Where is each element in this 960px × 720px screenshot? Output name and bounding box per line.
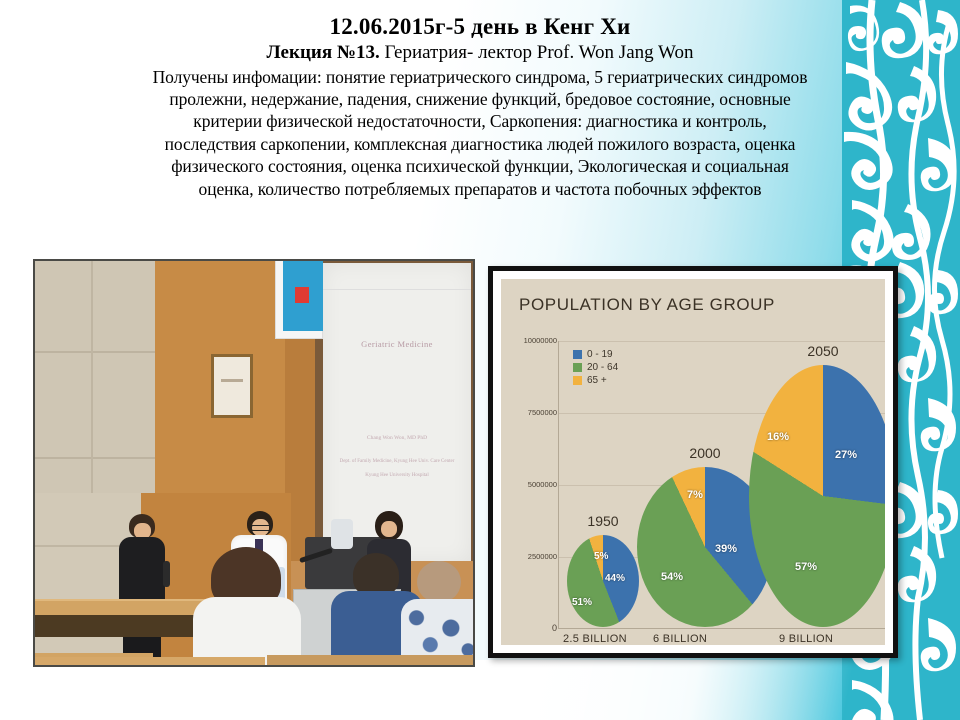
body-line: последствия саркопении, комплексная диаг… (40, 133, 920, 155)
legend-label: 0 - 19 (587, 349, 613, 360)
lecture-topic: Гериатрия- лектор Prof. Won Jang Won (380, 42, 694, 63)
pie-label-20-64: 51% (572, 597, 592, 608)
photo-presenter-face (381, 521, 397, 537)
page-title: 12.06.2015г-5 день в Кенг Хи (40, 14, 920, 40)
photo-equipment-light (331, 519, 353, 549)
page-subtitle: Лекция №13. Гериатрия- лектор Prof. Won … (40, 42, 920, 65)
lecture-hall-photo: Geriatric Medicine Chang Won Won, MD PhD… (33, 259, 475, 667)
legend-item: 20 - 64 (573, 362, 618, 373)
pie-year-label: 2050 (749, 343, 885, 359)
pie-slices-1950 (567, 535, 639, 627)
y-tick-label: 10000000 (501, 336, 557, 345)
legend-label: 20 - 64 (587, 362, 618, 373)
screen-title: Geriatric Medicine (335, 339, 459, 349)
pie-label-20-64: 57% (795, 561, 817, 573)
screen-institution: Kyung Hee University Hospital (331, 473, 463, 478)
population-chart: POPULATION BY AGE GROUP 10000000 7500000… (501, 279, 885, 645)
pie-year-label: 1950 (567, 513, 639, 529)
legend-label: 65 + (587, 375, 607, 386)
pie-1950: 1950 44% 51% 5% (567, 535, 639, 627)
legend-swatch-blue (573, 350, 582, 359)
pie-label-65plus: 7% (687, 489, 703, 501)
y-tick-label: 2500000 (501, 552, 557, 561)
pie-2050: 2050 27% 57% 16% (749, 365, 885, 627)
y-axis (558, 341, 559, 628)
pie-label-0-19: 39% (715, 543, 737, 555)
screen-affiliation: Dept. of Family Medicine, Kyung Hee Univ… (331, 459, 463, 464)
photo-desk-row (267, 655, 473, 667)
body-line: оценка, количество потребляемых препарат… (40, 178, 920, 200)
x-tick-label: 6 BILLION (653, 633, 707, 645)
screen-presenter: Chang Won Won, MD PhD (335, 435, 459, 441)
pie-label-65plus: 16% (767, 431, 789, 443)
photo-audience-head (417, 561, 461, 603)
x-tick-label: 2.5 BILLION (563, 633, 627, 645)
legend-item: 65 + (573, 375, 618, 386)
population-chart-frame: POPULATION BY AGE GROUP 10000000 7500000… (488, 266, 898, 658)
pie-label-65plus: 5% (594, 551, 608, 562)
photo-blue-poster (283, 261, 323, 331)
photo-doctor-glasses (251, 525, 272, 531)
photo-wall-frame (211, 354, 253, 418)
y-tick-label: 0 (501, 623, 557, 633)
body-line: пролежни, недержание, падения, снижение … (40, 88, 920, 110)
y-tick-label: 5000000 (501, 480, 557, 489)
pie-label-0-19: 27% (835, 449, 857, 461)
pie-label-20-64: 54% (661, 571, 683, 583)
x-axis (558, 628, 885, 629)
legend-swatch-green (573, 363, 582, 372)
pie-label-0-19: 44% (605, 573, 625, 584)
text-block: 12.06.2015г-5 день в Кенг Хи Лекция №13.… (40, 14, 920, 200)
chart-title: POPULATION BY AGE GROUP (519, 295, 775, 315)
x-tick-label: 9 BILLION (779, 633, 833, 645)
legend-item: 0 - 19 (573, 349, 618, 360)
legend-swatch-orange (573, 376, 582, 385)
lecture-number: Лекция №13. (267, 42, 380, 63)
body-line: физического состояния, оценка психическо… (40, 155, 920, 177)
y-tick-label: 7500000 (501, 408, 557, 417)
bottom-white-fade (0, 660, 960, 720)
photo-desk-row (35, 657, 265, 667)
slide-canvas: 12.06.2015г-5 день в Кенг Хи Лекция №13.… (0, 0, 960, 720)
body-text: Получены инфомации: понятие гериатрическ… (40, 66, 920, 200)
body-line: Получены инфомации: понятие гериатрическ… (40, 66, 920, 88)
body-line: критерии физической недостаточности, Сар… (40, 110, 920, 132)
photo-microphone (163, 561, 170, 587)
chart-legend: 0 - 19 20 - 64 65 + (573, 349, 618, 388)
pie-slices-2050 (749, 365, 885, 627)
gridline (559, 341, 885, 342)
